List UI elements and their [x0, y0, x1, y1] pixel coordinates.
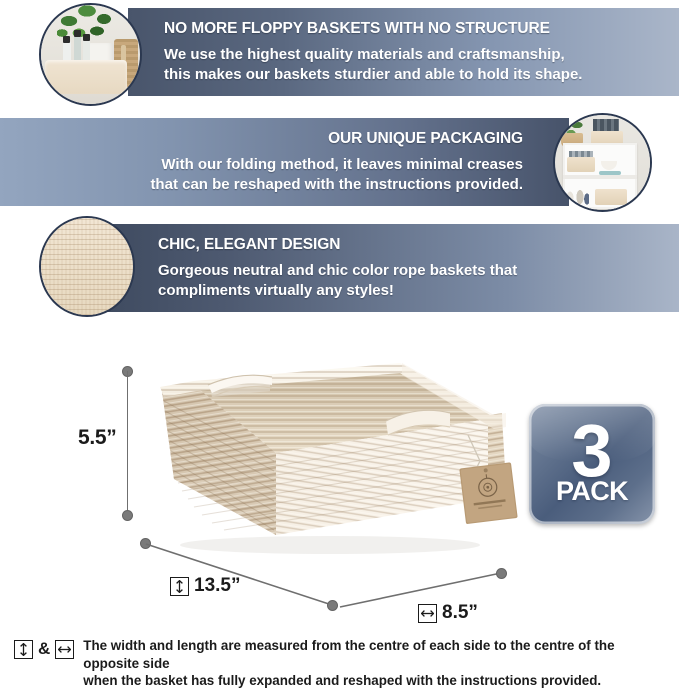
horizontal-arrow-glyph [58, 644, 71, 655]
bathroom-scene [41, 5, 140, 104]
height-dim-line [127, 371, 129, 514]
bottle-cap-3 [83, 34, 90, 41]
feature-title: NO MORE FLOPPY BASKETS WITH NO STRUCTURE [164, 20, 550, 38]
length-dim-dot-left [140, 538, 151, 549]
rope-texture-photo [39, 216, 135, 317]
pack-count-badge: 3 PACK [529, 404, 655, 524]
bottle-cap-2 [74, 30, 81, 37]
shelf-baskets-photo [553, 113, 652, 212]
feature-banner-structure: NO MORE FLOPPY BASKETS WITH NO STRUCTURE… [128, 8, 679, 96]
shelf-basket-bottom [595, 189, 627, 205]
feature-title: CHIC, ELEGANT DESIGN [158, 236, 340, 254]
cream-rope-basket [45, 60, 127, 94]
pack-count-number: 3 [571, 419, 612, 483]
shelf-divider [563, 175, 637, 179]
feature-body-line-2: this makes our baskets sturdier and able… [164, 65, 582, 84]
horizontal-arrow-box-icon [418, 604, 437, 623]
feature-body-line-1: Gorgeous neutral and chic color rope bas… [158, 261, 517, 280]
width-dimension-label: 8.5” [418, 602, 478, 624]
length-dim-dot-right [327, 600, 338, 611]
rope-texture-swatch [41, 218, 133, 315]
feature-body-line-1: With our folding method, it leaves minim… [161, 155, 523, 174]
feature-banner-design: CHIC, ELEGANT DESIGN Gorgeous neutral an… [104, 224, 679, 312]
feature-title: OUR UNIQUE PACKAGING [328, 130, 523, 148]
height-dim-dot-bottom [122, 510, 133, 521]
pack-count-label: PACK [556, 478, 628, 505]
footnote-text: The width and length are measured from t… [83, 637, 669, 690]
shelf-scene [555, 115, 650, 210]
vertical-arrow-glyph [174, 580, 185, 593]
footnote-icon-group: & [14, 639, 74, 659]
measurement-footnote: & The width and length are measured from… [14, 637, 669, 690]
bottle-cap-1 [63, 36, 70, 43]
width-value: 8.5” [442, 602, 478, 624]
horizontal-arrow-box-icon [55, 640, 74, 659]
vertical-arrow-box-icon [14, 640, 33, 659]
footnote-line-1: The width and length are measured from t… [83, 637, 669, 672]
shelf-teal-tray [599, 171, 621, 175]
vertical-arrow-glyph [18, 643, 29, 656]
width-dim-dot-right [496, 568, 507, 579]
vertical-arrow-box-icon [170, 577, 189, 596]
rope-basket-product-image [150, 357, 520, 572]
height-dimension-label: 5.5” [78, 426, 117, 450]
feature-body-line-2: compliments virtually any styles! [158, 281, 394, 300]
basket-drawing [150, 357, 520, 572]
shelf-vases [565, 187, 589, 207]
bathroom-basket-photo [39, 3, 142, 106]
length-dimension-label: 13.5” [170, 575, 240, 597]
horizontal-arrow-glyph [421, 608, 434, 619]
footnote-line-2: when the basket has fully expanded and r… [83, 672, 669, 690]
length-value: 13.5” [194, 575, 240, 597]
shelf-basket-middle [567, 157, 595, 172]
feature-banner-packaging: OUR UNIQUE PACKAGING With our folding me… [0, 118, 569, 206]
footnote-ampersand: & [38, 639, 50, 659]
feature-body-line-1: We use the highest quality materials and… [164, 45, 565, 64]
feature-body-line-2: that can be reshaped with the instructio… [150, 175, 523, 194]
